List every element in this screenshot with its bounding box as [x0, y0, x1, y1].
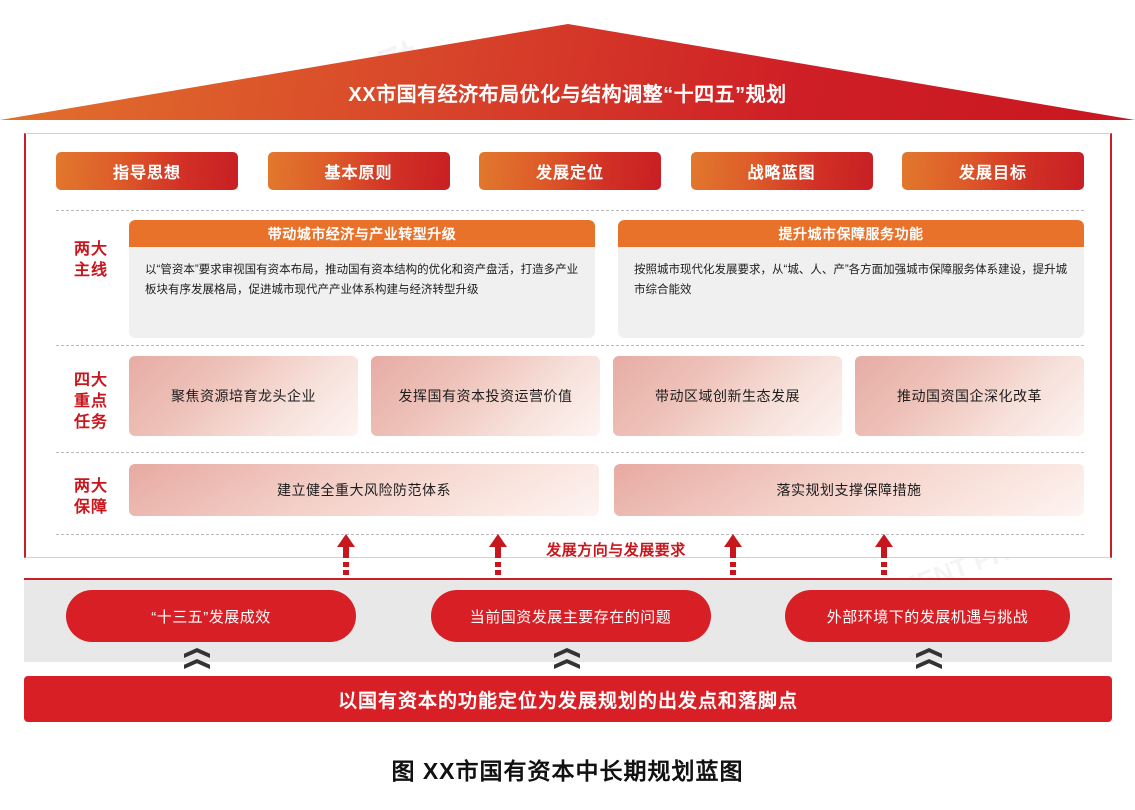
- line-card-economy-upgrade-title: 带动城市经济与产业转型升级: [129, 220, 595, 247]
- row-label-four-key-tasks: 四大 重点 任务: [54, 370, 128, 433]
- foundation-pill-row: “十三五”发展成效 当前国资发展主要存在的问题 外部环境下的发展机遇与挑战: [24, 590, 1112, 642]
- line-card-city-service[interactable]: 提升城市保障服务功能 按照城市现代化发展要求，从“城、人、产”各方面加强城市保障…: [618, 220, 1084, 338]
- line-card-city-service-body: 按照城市现代化发展要求，从“城、人、产”各方面加强城市保障服务体系建设，提升城市…: [618, 247, 1084, 338]
- foundation-pill-current-problems[interactable]: 当前国资发展主要存在的问题: [431, 590, 711, 642]
- row-label-two-guarantees-line1: 两大: [54, 476, 128, 497]
- figure-caption: 图 XX市国有资本中长期规划蓝图: [0, 752, 1135, 786]
- top-button-strategic-blueprint[interactable]: 战略蓝图: [691, 152, 873, 190]
- row-label-two-guarantees: 两大 保障: [54, 476, 128, 518]
- row-label-two-main-lines-line2: 主线: [54, 260, 128, 281]
- foundation-pill-13th-fiveyear-results[interactable]: “十三五”发展成效: [66, 590, 356, 642]
- row-two-guarantees: 建立健全重大风险防范体系 落实规划支撑保障措施: [129, 464, 1084, 516]
- row-label-two-main-lines-line1: 两大: [54, 239, 128, 260]
- up-arrow-icon-3: [724, 534, 742, 576]
- foundation-pill-external-opportunities[interactable]: 外部环境下的发展机遇与挑战: [785, 590, 1070, 642]
- divider-3: [56, 452, 1084, 453]
- row-label-two-guarantees-line2: 保障: [54, 497, 128, 518]
- row-label-two-main-lines: 两大 主线: [54, 239, 128, 281]
- roof-title: XX市国有经济布局优化与结构调整“十四五”规划: [0, 78, 1135, 107]
- line-card-city-service-title: 提升城市保障服务功能: [618, 220, 1084, 247]
- line-card-economy-upgrade-body: 以“管资本”要求审视国有资本布局，推动国有资本结构的优化和资产盘活，打造多产业板…: [129, 247, 595, 338]
- row-four-key-tasks: 聚焦资源培育龙头企业 发挥国有资本投资运营价值 带动区域创新生态发展 推动国资国…: [129, 356, 1084, 436]
- task-card-regional-innovation[interactable]: 带动区域创新生态发展: [613, 356, 842, 436]
- top-button-development-positioning[interactable]: 发展定位: [479, 152, 661, 190]
- task-card-soe-reform[interactable]: 推动国资国企深化改革: [855, 356, 1084, 436]
- up-arrow-icon-2: [489, 534, 507, 576]
- up-arrow-icon-4: [875, 534, 893, 576]
- foundation-statement-bar: 以国有资本的功能定位为发展规划的出发点和落脚点: [24, 676, 1112, 722]
- guarantee-card-support-measures[interactable]: 落实规划支撑保障措施: [614, 464, 1084, 516]
- row-label-four-key-tasks-line3: 任务: [54, 412, 128, 433]
- double-chevron-up-icon-1: [184, 648, 210, 674]
- divider-2: [56, 345, 1084, 346]
- divider-1: [56, 210, 1084, 211]
- main-frame: 指导思想 基本原则 发展定位 战略蓝图 发展目标 两大 主线 带动城市经济与产业…: [24, 133, 1112, 558]
- top-button-basic-principles[interactable]: 基本原则: [268, 152, 450, 190]
- task-card-capital-investment-value[interactable]: 发挥国有资本投资运营价值: [371, 356, 600, 436]
- top-button-row: 指导思想 基本原则 发展定位 战略蓝图 发展目标: [56, 152, 1084, 190]
- double-chevron-up-icon-2: [554, 648, 580, 674]
- task-card-leading-enterprises[interactable]: 聚焦资源培育龙头企业: [129, 356, 358, 436]
- line-card-economy-upgrade[interactable]: 带动城市经济与产业转型升级 以“管资本”要求审视国有资本布局，推动国有资本结构的…: [129, 220, 595, 338]
- double-chevron-up-icon-3: [916, 648, 942, 674]
- row-label-four-key-tasks-line1: 四大: [54, 370, 128, 391]
- arrow-band-caption: 发展方向与发展要求: [516, 539, 716, 560]
- guarantee-card-risk-prevention[interactable]: 建立健全重大风险防范体系: [129, 464, 599, 516]
- row-two-main-lines: 带动城市经济与产业转型升级 以“管资本”要求审视国有资本布局，推动国有资本结构的…: [129, 220, 1084, 338]
- top-button-development-goals[interactable]: 发展目标: [902, 152, 1084, 190]
- row-label-four-key-tasks-line2: 重点: [54, 391, 128, 412]
- top-button-guiding-thought[interactable]: 指导思想: [56, 152, 238, 190]
- up-arrow-icon-1: [337, 534, 355, 576]
